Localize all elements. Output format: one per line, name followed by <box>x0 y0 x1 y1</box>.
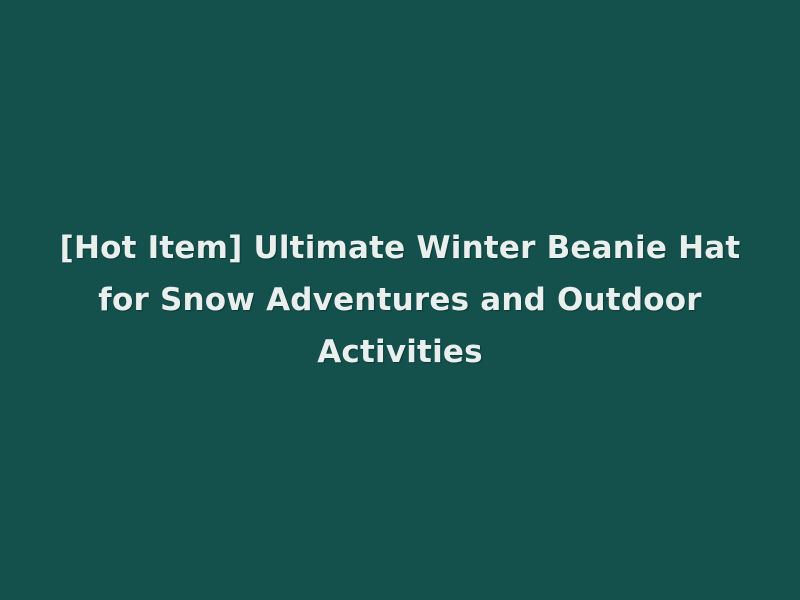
product-title-card: [Hot Item] Ultimate Winter Beanie Hat fo… <box>0 0 800 600</box>
title-block: [Hot Item] Ultimate Winter Beanie Hat fo… <box>20 222 780 378</box>
product-title: [Hot Item] Ultimate Winter Beanie Hat fo… <box>40 222 760 378</box>
